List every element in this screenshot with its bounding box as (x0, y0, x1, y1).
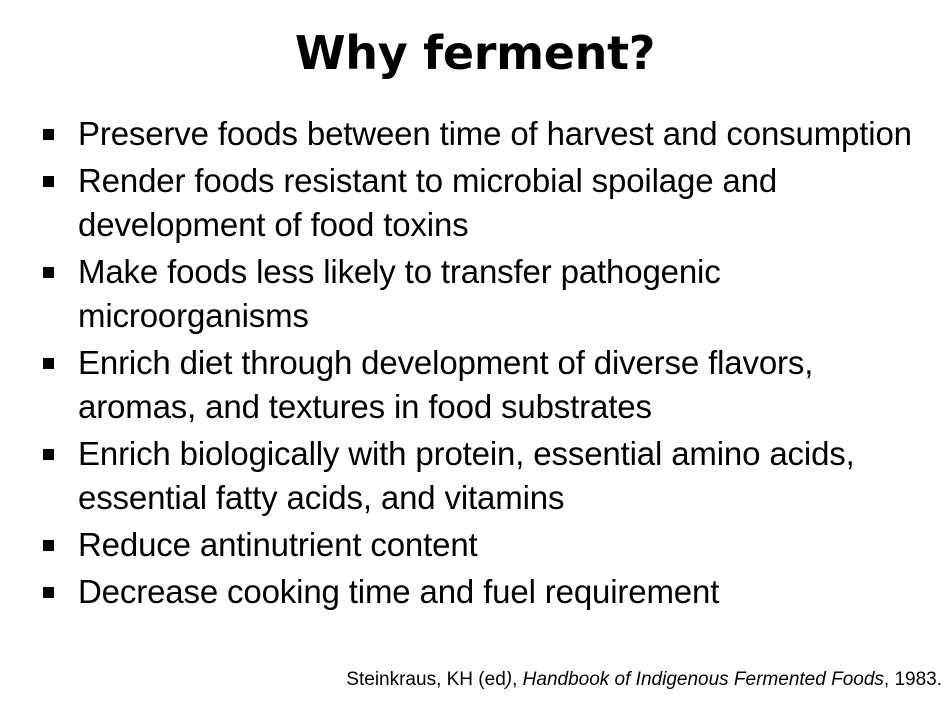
list-item: Reduce antinutrient content (38, 523, 922, 567)
citation-work-title: Handbook of Indigenous Fermented Foods (523, 669, 884, 690)
square-bullet-icon (43, 176, 54, 187)
list-item: Render foods resistant to microbial spoi… (38, 159, 922, 247)
list-item: Enrich diet through development of diver… (38, 341, 922, 429)
square-bullet-icon (43, 267, 54, 278)
list-item-label: Preserve foods between time of harvest a… (78, 112, 922, 156)
page-title: Why ferment? (0, 26, 950, 80)
square-bullet-icon (43, 129, 54, 140)
list-item-label: Reduce antinutrient content (78, 523, 922, 567)
list-item-label: Make foods less likely to transfer patho… (78, 250, 922, 338)
list-item-label: Enrich biologically with protein, essent… (78, 432, 922, 520)
slide: Why ferment? Preserve foods between time… (0, 0, 950, 712)
square-bullet-icon (43, 587, 54, 598)
list-item: Decrease cooking time and fuel requireme… (38, 570, 922, 614)
bullet-list: Preserve foods between time of harvest a… (38, 112, 922, 617)
list-item: Make foods less likely to transfer patho… (38, 250, 922, 338)
citation-separator: , (512, 669, 523, 690)
list-item: Preserve foods between time of harvest a… (38, 112, 922, 156)
list-item: Enrich biologically with protein, essent… (38, 432, 922, 520)
list-item-label: Decrease cooking time and fuel requireme… (78, 570, 922, 614)
citation-author: Steinkraus, KH (ed (346, 669, 505, 690)
square-bullet-icon (43, 358, 54, 369)
citation-year: , 1983. (884, 669, 942, 690)
list-item-label: Render foods resistant to microbial spoi… (78, 159, 922, 247)
square-bullet-icon (43, 449, 54, 460)
list-item-label: Enrich diet through development of diver… (78, 341, 922, 429)
square-bullet-icon (43, 540, 54, 551)
source-citation: Steinkraus, KH (ed), Handbook of Indigen… (0, 668, 942, 692)
